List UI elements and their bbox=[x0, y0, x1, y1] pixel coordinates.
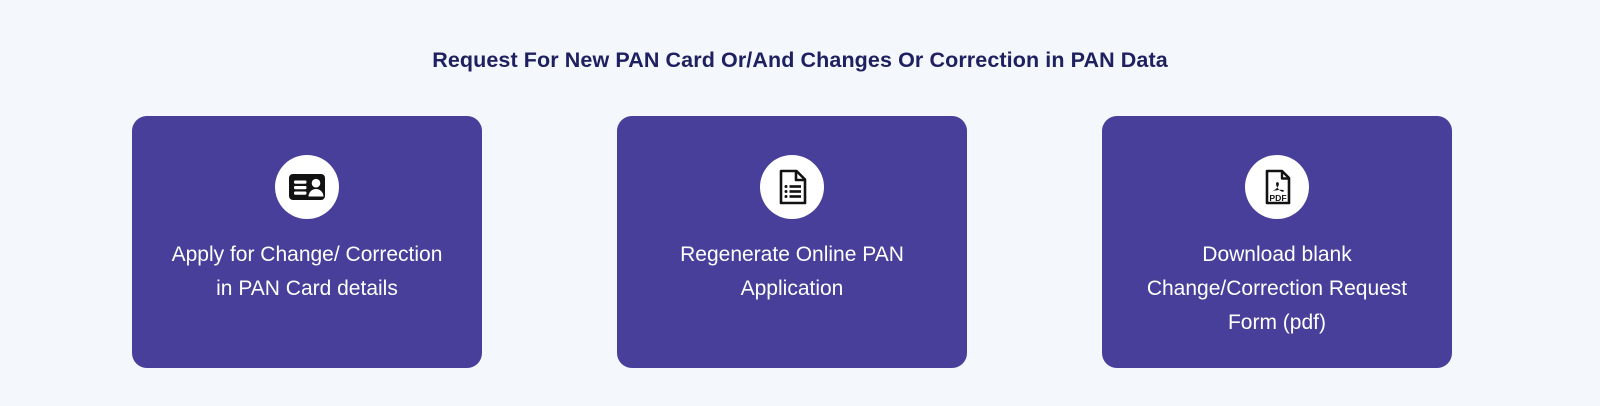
card-label: Regenerate Online PAN Application bbox=[647, 238, 937, 306]
id-card-icon bbox=[275, 155, 339, 219]
service-card-row: Apply for Change/ Correction in PAN Card… bbox=[132, 116, 1452, 368]
document-list-icon bbox=[760, 155, 824, 219]
pdf-file-icon: PDF bbox=[1245, 155, 1309, 219]
card-apply-change-correction[interactable]: Apply for Change/ Correction in PAN Card… bbox=[132, 116, 482, 368]
card-regenerate-online-application[interactable]: Regenerate Online PAN Application bbox=[617, 116, 967, 368]
card-label: Apply for Change/ Correction in PAN Card… bbox=[162, 238, 452, 306]
pdf-icon-text: PDF bbox=[1269, 193, 1286, 203]
page-title: Request For New PAN Card Or/And Changes … bbox=[0, 48, 1600, 73]
pan-services-panel: Request For New PAN Card Or/And Changes … bbox=[0, 0, 1600, 406]
card-download-blank-form-pdf[interactable]: PDF Download blank Change/Correction Req… bbox=[1102, 116, 1452, 368]
card-label: Download blank Change/Correction Request… bbox=[1132, 238, 1422, 340]
